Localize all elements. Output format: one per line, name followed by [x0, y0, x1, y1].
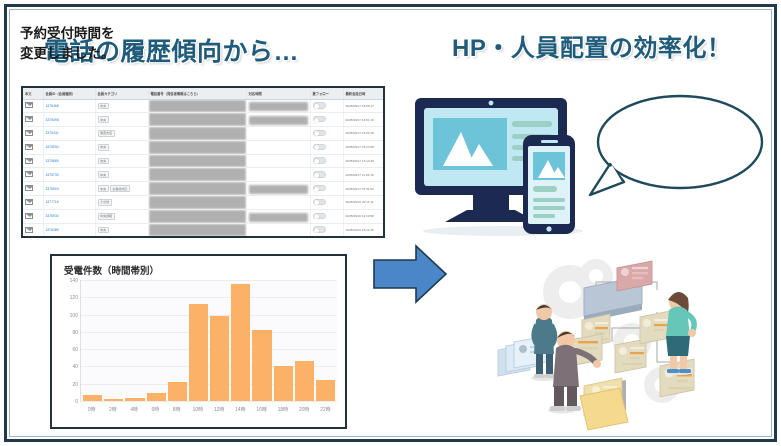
- heading-right: HP・人員配置の効率化！: [452, 28, 731, 63]
- follow-toggle[interactable]: [313, 157, 326, 164]
- row-category-cell: その他: [95, 196, 148, 210]
- category-tag: 中央: [98, 171, 109, 178]
- row-category-cell: 中央: [95, 154, 148, 168]
- row-last-talk-cell: 2025/09/16 18:11:36: [343, 223, 385, 237]
- follow-toggle[interactable]: [313, 226, 326, 233]
- table-header-row: 本文会員ID（会員種別）会員カテゴリ電話番号（発信者情報はこちら）対応時間要フォ…: [23, 88, 385, 99]
- member-id-link[interactable]: 3376489: [46, 228, 59, 232]
- follow-toggle[interactable]: [313, 116, 326, 123]
- follow-toggle[interactable]: [313, 213, 326, 220]
- row-mail-icon-cell[interactable]: [23, 140, 43, 154]
- chart-bar: [274, 366, 293, 401]
- redacted-block: [149, 100, 246, 113]
- category-tag: 中央: [98, 144, 109, 151]
- chart-bar: [252, 330, 271, 401]
- redacted-block: [249, 213, 308, 222]
- speech-bubble: [588, 92, 766, 196]
- chart-bar: [189, 304, 208, 401]
- last-talk-timestamp: 2025/09/17 07:31:02: [346, 187, 374, 191]
- row-member-id-cell[interactable]: 3375534: [43, 140, 95, 154]
- mail-icon[interactable]: [25, 144, 33, 150]
- row-duration-cell: [246, 127, 310, 141]
- row-tel-cell: [148, 168, 246, 182]
- category-tag: 中央通販: [98, 213, 115, 220]
- row-member-id-cell[interactable]: 3376489: [43, 223, 95, 237]
- row-category-cell: 中央: [95, 140, 148, 154]
- row-category-cell: 中央通販: [95, 209, 148, 223]
- row-duration-cell: [246, 154, 310, 168]
- chart-y-tick-label: 100: [70, 313, 78, 319]
- row-category-cell: 関西支店: [95, 127, 148, 141]
- table-row[interactable]: 3375904中央お客様対応2025/09/17 07:31:02: [23, 182, 385, 196]
- member-id-link[interactable]: 3375431: [46, 131, 59, 135]
- row-follow-toggle-cell[interactable]: [310, 140, 343, 154]
- row-follow-toggle-cell[interactable]: [310, 113, 343, 127]
- follow-toggle[interactable]: [313, 185, 326, 192]
- row-tel-cell: [148, 223, 246, 237]
- last-talk-timestamp: 2025/09/17 11:02:16: [346, 173, 374, 177]
- row-tel-cell: [148, 127, 246, 141]
- table-row[interactable]: 3375431関西支店2025/09/17 16:02:18: [23, 127, 385, 141]
- chart-bar: [210, 316, 229, 401]
- redacted-block: [249, 102, 308, 111]
- chart-bar: [168, 382, 187, 401]
- row-last-talk-cell: 2025/09/17 15:23:58: [343, 140, 385, 154]
- redacted-block: [149, 196, 246, 209]
- member-id-link[interactable]: 3375730: [46, 173, 59, 177]
- redacted-block: [149, 127, 246, 140]
- chart-x-tick-label: 8時: [167, 402, 186, 413]
- row-last-talk-cell: 2025/09/17 13:14:38: [343, 154, 385, 168]
- mail-icon[interactable]: [25, 130, 33, 136]
- row-tel-cell: [148, 99, 246, 113]
- redacted-block: [149, 182, 246, 195]
- redacted-block: [149, 141, 246, 154]
- chart-x-tick-label: 6時: [146, 402, 165, 413]
- row-member-id-cell[interactable]: 3375904: [43, 182, 95, 196]
- member-id-link[interactable]: 3375689: [46, 159, 59, 163]
- chart-x-tick-label: 18時: [273, 402, 292, 413]
- desktop-and-mobile-icon: [411, 86, 596, 238]
- redacted-block: [149, 210, 246, 223]
- row-last-talk-cell: 2025/09/17 18:05:17: [343, 99, 385, 113]
- mail-icon[interactable]: [25, 213, 33, 219]
- last-talk-timestamp: 2025/09/17 16:02:18: [346, 131, 374, 135]
- row-mail-icon-cell[interactable]: [23, 99, 43, 113]
- table-column-header-1[interactable]: 会員ID（会員種別）: [43, 88, 95, 99]
- redacted-block: [149, 113, 246, 126]
- last-talk-timestamp: 2025/09/17 13:14:38: [346, 159, 374, 163]
- chart-y-tick-label: 140: [70, 278, 78, 284]
- chart-gridline: 0: [81, 401, 337, 402]
- row-mail-icon-cell[interactable]: [23, 168, 43, 182]
- table-row[interactable]: 3376489中央2025/09/16 18:11:36: [23, 223, 385, 237]
- row-follow-toggle-cell[interactable]: [310, 127, 343, 141]
- row-category-cell: 中央: [95, 223, 148, 237]
- row-duration-cell: [246, 140, 310, 154]
- row-duration-cell: [246, 99, 310, 113]
- chart-y-tick-label: 20: [72, 382, 78, 388]
- chart-x-tick-label: 16時: [252, 402, 271, 413]
- chart-x-axis: 0時2時4時6時8時10時12時14時16時18時20時22時: [80, 402, 337, 413]
- mail-icon[interactable]: [25, 171, 33, 177]
- last-talk-timestamp: 2025/09/16 19:10:58: [346, 214, 374, 218]
- member-id-link[interactable]: 3375930: [46, 214, 59, 218]
- table-row[interactable]: 3375930中央通販2025/09/16 19:10:58: [23, 209, 385, 223]
- mail-icon[interactable]: [25, 199, 33, 205]
- table-body: 3375468中央2025/09/17 18:05:173375498中央202…: [23, 99, 385, 237]
- row-member-id-cell[interactable]: 3375468: [43, 99, 95, 113]
- team-org-chart-illustration: [492, 250, 772, 435]
- redacted-block: [249, 116, 308, 125]
- row-mail-icon-cell[interactable]: [23, 223, 43, 237]
- row-mail-icon-cell[interactable]: [23, 182, 43, 196]
- table-column-header-5[interactable]: 要フォロー: [310, 88, 343, 99]
- follow-toggle[interactable]: [313, 171, 326, 178]
- member-id-link[interactable]: 3377716: [46, 200, 59, 204]
- member-id-link[interactable]: 3375468: [46, 104, 59, 108]
- chart-bar: [316, 380, 335, 401]
- follow-toggle[interactable]: [313, 199, 326, 206]
- row-last-talk-cell: 2025/09/17 16:02:18: [343, 127, 385, 141]
- row-mail-icon-cell[interactable]: [23, 113, 43, 127]
- speech-bubble-text: 予約受付時間を 変更しました。: [20, 24, 160, 63]
- table-column-header-2[interactable]: 会員カテゴリ: [95, 88, 148, 99]
- category-tag: その他: [98, 199, 112, 206]
- row-duration-cell: [246, 209, 310, 223]
- follow-toggle[interactable]: [313, 144, 326, 151]
- last-talk-timestamp: 2025/09/17 15:23:58: [346, 145, 374, 149]
- chart-x-tick-label: 14時: [231, 402, 250, 413]
- table-row[interactable]: 3375498中央2025/09/17 16:51:16: [23, 113, 385, 127]
- row-follow-toggle-cell[interactable]: [310, 168, 343, 182]
- chart-y-tick-label: 60: [72, 347, 78, 353]
- right-arrow-icon: [372, 243, 448, 305]
- member-id-link[interactable]: 3375534: [46, 145, 59, 149]
- chart-x-tick-label: 4時: [125, 402, 144, 413]
- row-follow-toggle-cell[interactable]: [310, 182, 343, 196]
- follow-toggle[interactable]: [313, 102, 326, 109]
- table-row[interactable]: 3375689中央2025/09/17 13:14:38: [23, 154, 385, 168]
- chart-bars: [83, 280, 335, 401]
- mail-icon[interactable]: [25, 158, 33, 164]
- row-duration-cell: [246, 182, 310, 196]
- row-tel-cell: [148, 196, 246, 210]
- chart-bar: [295, 361, 314, 401]
- row-duration-cell: [246, 168, 310, 182]
- row-follow-toggle-cell[interactable]: [310, 209, 343, 223]
- chart-plot-area: 020406080100120140: [80, 280, 337, 402]
- chart-x-tick-label: 2時: [103, 402, 122, 413]
- category-tag: お客様対応: [110, 185, 130, 192]
- chart-bar: [125, 398, 144, 401]
- row-duration-cell: [246, 113, 310, 127]
- chart-bar: [147, 393, 166, 401]
- chart-bar: [231, 284, 250, 401]
- category-tag: 中央: [98, 103, 109, 110]
- call-history-table: 本文会員ID（会員種別）会員カテゴリ電話番号（発信者情報はこちら）対応時間要フォ…: [23, 88, 385, 237]
- row-last-talk-cell: 2025/09/17 07:31:02: [343, 182, 385, 196]
- member-id-link[interactable]: 3375498: [46, 118, 59, 122]
- mail-icon[interactable]: [25, 185, 33, 191]
- follow-toggle[interactable]: [313, 130, 326, 137]
- table-column-header-0[interactable]: 本文: [23, 88, 43, 99]
- row-last-talk-cell: 2025/09/16 19:10:58: [343, 209, 385, 223]
- row-member-id-cell[interactable]: 3375689: [43, 154, 95, 168]
- category-tag: 中央: [98, 116, 109, 123]
- last-talk-timestamp: 2025/09/16 20:11:11: [346, 200, 374, 204]
- chart-x-tick-label: 12時: [210, 402, 229, 413]
- redacted-block: [249, 185, 308, 194]
- row-category-cell: 中央お客様対応: [95, 182, 148, 196]
- row-follow-toggle-cell[interactable]: [310, 154, 343, 168]
- table-row[interactable]: 3375468中央2025/09/17 18:05:17: [23, 99, 385, 113]
- mail-icon[interactable]: [25, 116, 33, 122]
- row-category-cell: 中央: [95, 168, 148, 182]
- chart-y-tick-label: 40: [72, 364, 78, 370]
- table-column-header-6[interactable]: 最終会話日時: [343, 88, 385, 99]
- row-tel-cell: [148, 140, 246, 154]
- row-last-talk-cell: 2025/09/17 11:02:16: [343, 168, 385, 182]
- row-mail-icon-cell[interactable]: [23, 209, 43, 223]
- last-talk-timestamp: 2025/09/16 18:11:36: [346, 228, 374, 232]
- redacted-block: [149, 168, 246, 181]
- row-tel-cell: [148, 113, 246, 127]
- row-member-id-cell[interactable]: 3375730: [43, 168, 95, 182]
- slide-canvas: 電話の履歴傾向から… HP・人員配置の効率化！ 本文会員ID（会員種別）会員カテ…: [0, 0, 781, 446]
- row-last-talk-cell: 2025/09/16 20:11:11: [343, 196, 385, 210]
- row-tel-cell: [148, 209, 246, 223]
- row-duration-cell: [246, 196, 310, 210]
- row-duration-cell: [246, 223, 310, 237]
- row-category-cell: 中央: [95, 99, 148, 113]
- row-last-talk-cell: 2025/09/17 16:51:16: [343, 113, 385, 127]
- category-tag: 中央: [98, 158, 109, 165]
- table-column-header-3[interactable]: 電話番号（発信者情報はこちら）: [148, 88, 246, 99]
- table-row[interactable]: 3377716その他2025/09/16 20:11:11: [23, 196, 385, 210]
- row-member-id-cell[interactable]: 3375498: [43, 113, 95, 127]
- chart-title: 受電件数（時間帯別）: [64, 263, 337, 277]
- chart-x-tick-label: 0時: [82, 402, 101, 413]
- chart-y-tick-label: 120: [70, 295, 78, 301]
- row-member-id-cell[interactable]: 3375930: [43, 209, 95, 223]
- row-mail-icon-cell[interactable]: [23, 196, 43, 210]
- last-talk-timestamp: 2025/09/17 16:51:16: [346, 118, 374, 122]
- chart-y-tick-label: 80: [72, 330, 78, 336]
- chart-bar: [104, 399, 123, 401]
- table-row[interactable]: 3375534中央2025/09/17 15:23:58: [23, 140, 385, 154]
- redacted-block: [149, 224, 246, 237]
- mail-icon[interactable]: [25, 227, 33, 233]
- category-tag: 中央: [98, 227, 109, 234]
- row-mail-icon-cell[interactable]: [23, 154, 43, 168]
- row-tel-cell: [148, 182, 246, 196]
- table-row[interactable]: 3375730中央2025/09/17 11:02:16: [23, 168, 385, 182]
- row-follow-toggle-cell[interactable]: [310, 223, 343, 237]
- row-mail-icon-cell[interactable]: [23, 127, 43, 141]
- row-tel-cell: [148, 154, 246, 168]
- chart-bar: [83, 395, 102, 401]
- row-category-cell: 中央: [95, 113, 148, 127]
- chart-y-tick-label: 0: [75, 399, 78, 405]
- row-follow-toggle-cell[interactable]: [310, 99, 343, 113]
- category-tag: 関西支店: [98, 130, 115, 137]
- chart-x-tick-label: 22時: [316, 402, 335, 413]
- mail-icon[interactable]: [25, 102, 33, 108]
- category-tag: 中央: [98, 185, 109, 192]
- chart-x-tick-label: 20時: [295, 402, 314, 413]
- table-column-header-4[interactable]: 対応時間: [246, 88, 310, 99]
- last-talk-timestamp: 2025/09/17 18:05:17: [346, 104, 374, 108]
- reception-count-chart-panel: 受電件数（時間帯別） 020406080100120140 0時2時4時6時8時…: [50, 254, 347, 429]
- chart-x-tick-label: 10時: [188, 402, 207, 413]
- row-member-id-cell[interactable]: 3375431: [43, 127, 95, 141]
- row-follow-toggle-cell[interactable]: [310, 196, 343, 210]
- call-history-table-panel: 本文会員ID（会員種別）会員カテゴリ電話番号（発信者情報はこちら）対応時間要フォ…: [21, 86, 385, 238]
- redacted-block: [149, 155, 246, 168]
- row-member-id-cell[interactable]: 3377716: [43, 196, 95, 210]
- member-id-link[interactable]: 3375904: [46, 187, 59, 191]
